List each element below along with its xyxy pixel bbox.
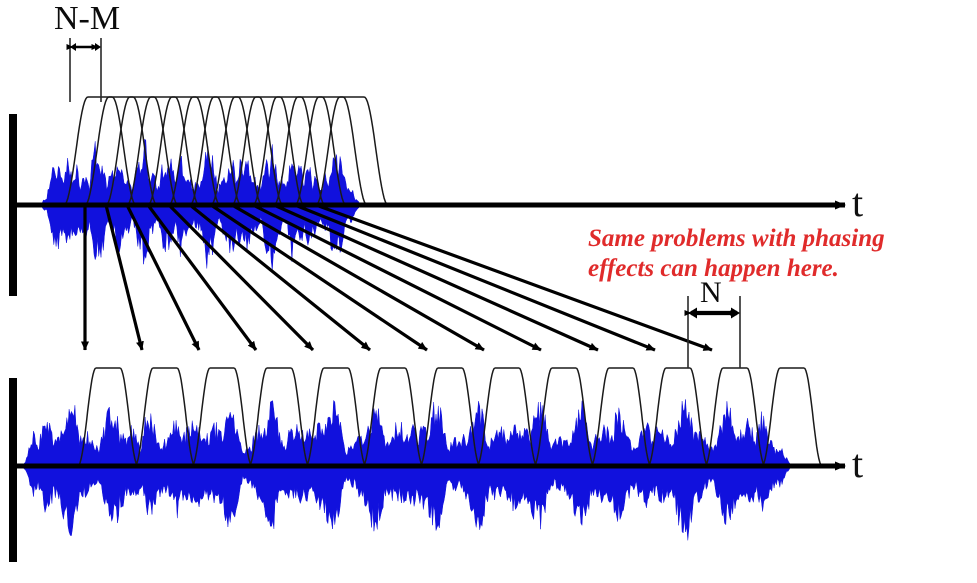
stft-overlap-add-diagram	[0, 0, 977, 583]
hop-label-n-minus-m: N-M	[54, 2, 120, 36]
annotation-line-1: Same problems with phasing	[588, 224, 885, 254]
top-axis-label-t: t	[852, 183, 863, 223]
bottom-axis-label-t: t	[852, 444, 863, 484]
annotation-line-2: effects can happen here.	[588, 254, 839, 284]
figure-canvas: N-M N t t Same problems with phasing eff…	[0, 0, 977, 583]
bottom-waveform	[22, 399, 792, 540]
